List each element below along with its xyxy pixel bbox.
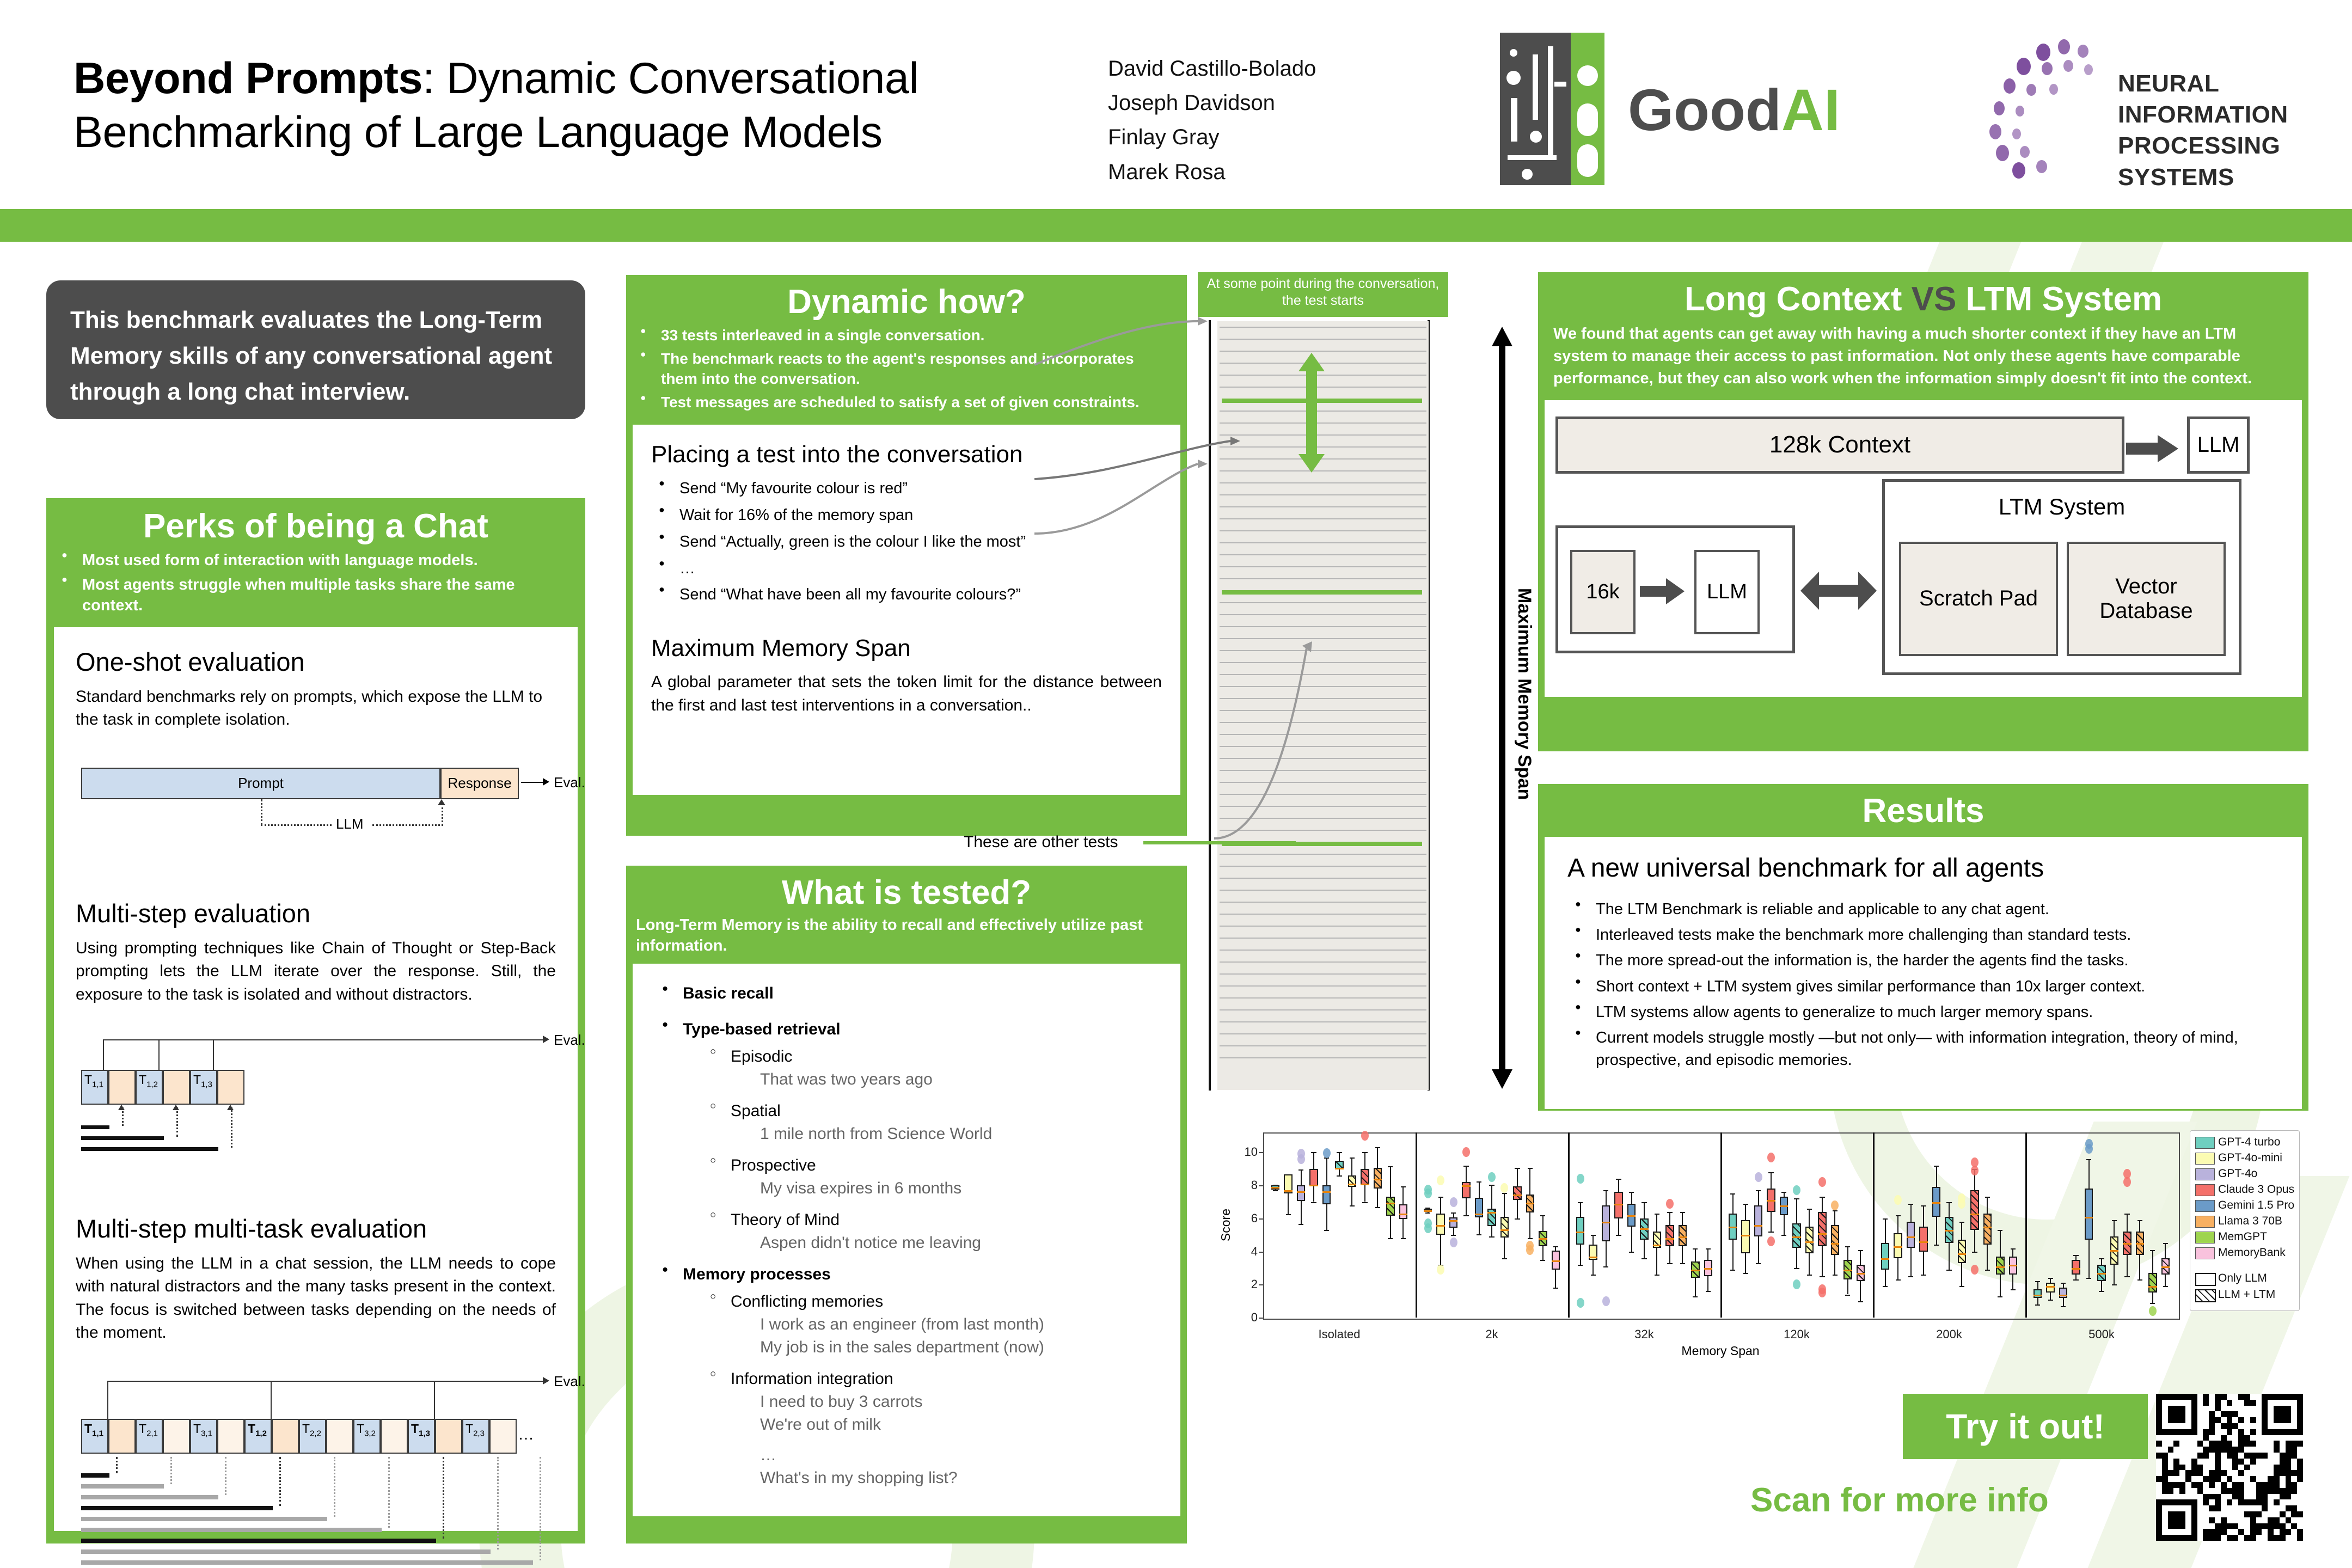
max-span-arrow-icon: [1492, 327, 1514, 1089]
median-line: [2085, 1217, 2093, 1218]
conversation-line: [1220, 890, 1426, 891]
hatch-pattern: [1336, 1162, 1342, 1168]
multi-step-body: Using prompting techniques like Chain of…: [76, 937, 556, 1007]
dynamic-bullets: 33 tests interleaved in a single convers…: [626, 326, 1187, 425]
median-line: [1818, 1233, 1826, 1235]
median-line: [1780, 1205, 1788, 1207]
conversation-line: [1220, 566, 1426, 567]
whisker-cap: [1883, 1286, 1888, 1287]
outlier-point: [1361, 1131, 1369, 1141]
whisker-cap: [1768, 1232, 1773, 1233]
neurips-line-2: PROCESSING SYSTEMS: [2118, 130, 2319, 192]
memory-bar: [81, 1549, 491, 1554]
whisker-cap: [2137, 1220, 2142, 1221]
legend-label: MemGPT: [2218, 1230, 2267, 1244]
legend-label: MemoryBank: [2218, 1246, 2286, 1259]
tested-example: My job is in the sales department (now): [731, 1336, 1159, 1359]
whisker-cap: [1603, 1190, 1608, 1191]
y-tick: [1259, 1318, 1263, 1319]
median-line: [1996, 1266, 2004, 1268]
box: [1399, 1204, 1407, 1219]
results-bullets: The LTM Benchmark is reliable and applic…: [1567, 898, 2279, 1071]
whisker-cap: [2163, 1286, 2168, 1287]
task-cell: T2,3: [462, 1419, 489, 1454]
box: [1462, 1182, 1470, 1198]
whisker-cap: [2137, 1279, 2142, 1281]
group-separator: [2025, 1132, 2027, 1318]
whisker-cap: [1388, 1166, 1393, 1167]
memory-span-body: A global parameter that sets the token l…: [651, 671, 1162, 717]
results-bullet: LTM systems allow agents to generalize t…: [1567, 1001, 2279, 1024]
whisker-cap: [1934, 1245, 1939, 1246]
outlier-point: [1577, 1298, 1584, 1308]
outlier-point: [2085, 1139, 2093, 1149]
heading-ltm-system: LTM System: [1956, 280, 2162, 318]
whisker-cap: [1629, 1192, 1634, 1193]
filler-cell: [326, 1419, 353, 1454]
conversation-line: [1220, 626, 1426, 627]
llm-loop-label: LLM: [336, 816, 364, 832]
box: [1919, 1227, 1927, 1252]
qr-code[interactable]: [2156, 1394, 2303, 1541]
perks-bullet: Most used form of interaction with langu…: [54, 550, 570, 571]
box: [1449, 1217, 1457, 1227]
dynamic-body: Placing a test into the conversation Sen…: [633, 425, 1180, 795]
whisker-cap: [1337, 1175, 1342, 1177]
page-title: Beyond Prompts: Dynamic Conversational B…: [73, 52, 1092, 160]
whisker-cap: [2112, 1284, 2117, 1285]
memory-arrow-icon: [540, 1457, 542, 1560]
whisker-cap: [1489, 1236, 1494, 1238]
median-line: [1792, 1236, 1800, 1238]
context-128k-box: 128k Context: [1555, 416, 2124, 474]
whisker-cap: [1425, 1212, 1430, 1214]
box: [1881, 1243, 1889, 1270]
median-line: [1919, 1241, 1927, 1243]
header-divider-band: [0, 209, 2352, 242]
task-cell: T1,2: [244, 1419, 272, 1454]
whisker-cap: [1858, 1301, 1863, 1302]
median-line: [1691, 1270, 1699, 1271]
outlier-point: [1971, 1157, 1979, 1167]
whisker-cap: [1591, 1275, 1596, 1276]
median-line: [1983, 1227, 1992, 1228]
multi-step-title: Multi-step evaluation: [76, 898, 556, 928]
conversation-line: [1220, 674, 1426, 675]
whisker-cap: [1680, 1212, 1685, 1213]
tested-sublist: Episodic That was two years ago Spatial …: [683, 1045, 1159, 1254]
memory-arrow-icon: [116, 1457, 119, 1473]
whisker-cap: [2086, 1159, 2091, 1160]
goodai-wordmark: GoodAI: [1628, 81, 1840, 139]
whisker-cap: [1286, 1214, 1291, 1215]
whisker-cap: [2150, 1303, 2155, 1304]
max-memory-span-label: Maximum Memory Span: [1514, 588, 1535, 800]
x-tick-label: 200k: [1873, 1327, 2025, 1342]
whisker-cap: [1655, 1214, 1659, 1215]
tested-item-label: Type-based retrieval: [683, 1020, 841, 1038]
whisker-cap: [2035, 1281, 2040, 1282]
x-tick-label: 120k: [1720, 1327, 1873, 1342]
whisker-cap: [1311, 1202, 1316, 1203]
whisker-cap: [1388, 1238, 1393, 1239]
median-line: [2136, 1243, 2144, 1245]
median-line: [1729, 1227, 1737, 1228]
hatch-pattern: [1793, 1224, 1799, 1247]
results-bullet: Interleaved tests make the benchmark mor…: [1567, 924, 2279, 946]
conversation-line: [1220, 1033, 1426, 1034]
hatch-pattern: [1806, 1228, 1812, 1252]
conversation-callout: At some point during the conversation, t…: [1198, 272, 1448, 317]
llm-top-label: LLM: [2197, 433, 2240, 457]
llm-bottom-box: LLM: [1694, 550, 1760, 634]
tested-subitem: Theory of Mind Aspen didn't notice me le…: [702, 1209, 1159, 1254]
prompt-block-label: Prompt: [81, 768, 440, 799]
context-16k-label: 16k: [1586, 580, 1619, 604]
vector-db-box: Vector Database: [2067, 542, 2226, 656]
test-message-line: [1222, 590, 1422, 595]
median-line: [2046, 1286, 2054, 1288]
conversation-line: [1220, 1045, 1426, 1046]
conversation-line: [1220, 973, 1426, 975]
box: [1309, 1169, 1318, 1186]
outlier-point: [1971, 1265, 1979, 1275]
conversation-line: [1220, 638, 1426, 639]
legend-swatch: [2195, 1232, 2215, 1244]
whisker-cap: [2073, 1279, 2078, 1281]
x-tick-label: 32k: [1568, 1327, 1720, 1342]
outlier-point: [1577, 1174, 1584, 1184]
x-axis-label: Memory Span: [1263, 1344, 2178, 1358]
conversation-line: [1220, 926, 1426, 927]
goodai-ai-text: AI: [1781, 77, 1840, 143]
whisker-cap: [1896, 1279, 1901, 1281]
neurips-wordmark: NEURAL INFORMATION PROCESSING SYSTEMS: [2118, 68, 2319, 193]
intro-callout: This benchmark evaluates the Long-Term M…: [46, 280, 585, 419]
results-bullet: The LTM Benchmark is reliable and applic…: [1567, 898, 2279, 921]
task-cell: T1,1: [81, 1419, 108, 1454]
box: [1297, 1185, 1305, 1201]
placing-bullets: Send “My favourite colour is red” Wait f…: [651, 477, 1162, 607]
tested-example: We're out of milk: [731, 1413, 1159, 1436]
y-tick-label: 4: [1239, 1245, 1258, 1259]
dynamic-bullet: 33 tests interleaved in a single convers…: [633, 326, 1168, 346]
whisker-cap: [1401, 1238, 1406, 1239]
whisker-cap: [1706, 1248, 1711, 1249]
legend-swatch: [2195, 1200, 2215, 1212]
tested-item: Type-based retrieval Episodic That was t…: [654, 1018, 1159, 1254]
tested-subitem: Spatial 1 mile north from Science World: [702, 1100, 1159, 1146]
legend-label: Gemini 1.5 Pro: [2218, 1199, 2294, 1212]
box: [1805, 1227, 1814, 1253]
box: [1576, 1217, 1584, 1245]
tested-example: I work as an engineer (from last month): [731, 1313, 1159, 1336]
whisker-cap: [1794, 1268, 1799, 1269]
legend-swatch: [2195, 1153, 2215, 1165]
y-tick: [1259, 1252, 1263, 1253]
whisker-cap: [1820, 1197, 1824, 1198]
tested-example: I need to buy 3 carrots: [731, 1391, 1159, 1413]
legend-label: GPT-4o-mini: [2218, 1151, 2282, 1165]
box: [1754, 1205, 1762, 1237]
hatch-pattern: [2196, 1290, 2215, 1301]
box: [1970, 1190, 1979, 1230]
conversation-line: [1220, 818, 1426, 819]
whisker-cap: [1273, 1190, 1278, 1191]
whisker-cap: [2150, 1250, 2155, 1251]
conversation-line: [1220, 746, 1426, 747]
legend-style-swatch: [2195, 1289, 2216, 1302]
conversation-line: [1220, 902, 1426, 903]
y-tick-label: 10: [1239, 1145, 1258, 1159]
whisker-cap: [1908, 1276, 1913, 1277]
task-cell: T3,1: [190, 1419, 217, 1454]
whisker-cap: [1603, 1266, 1608, 1267]
whisker-cap: [1553, 1246, 1558, 1247]
median-line: [1449, 1220, 1457, 1222]
task-cell: T2,2: [299, 1419, 326, 1454]
legend-label: Claude 3 Opus: [2218, 1183, 2294, 1196]
legend-swatch: [2195, 1247, 2215, 1259]
whisker-cap: [1616, 1235, 1621, 1236]
perks-bullet: Most agents struggle when multiple tasks…: [54, 574, 570, 616]
memory-arrow-icon: [334, 1457, 336, 1517]
whisker-cap: [2099, 1291, 2104, 1292]
median-line: [1665, 1238, 1674, 1240]
box: [1386, 1197, 1394, 1216]
outlier-point: [1818, 1177, 1826, 1187]
placing-bullet: Wait for 16% of the memory span: [651, 504, 1162, 527]
median-line: [1704, 1268, 1712, 1270]
goodai-eye-icon: [1571, 33, 1604, 185]
whisker-cap: [1401, 1186, 1406, 1187]
tested-item: Memory processes Conflicting memories I …: [654, 1263, 1159, 1490]
box: [1602, 1205, 1610, 1242]
whisker-cap: [1578, 1265, 1583, 1266]
whisker-cap: [2048, 1278, 2053, 1279]
multi-step-diagram: Eval. T1,1 T1,2 T1,3: [76, 1034, 556, 1197]
median-line: [1576, 1232, 1584, 1233]
whisker-cap: [1463, 1215, 1468, 1216]
hatch-pattern: [1680, 1226, 1686, 1245]
box: [2072, 1260, 2080, 1275]
conversation-line: [1220, 614, 1426, 615]
outlier-point: [2149, 1306, 2157, 1316]
whisker-cap: [1985, 1270, 1990, 1271]
whisker-cap: [1667, 1263, 1672, 1264]
whisker-cap: [1998, 1296, 2002, 1297]
author-name: David Castillo-Bolado: [1108, 52, 1316, 86]
hatch-pattern: [1959, 1241, 1965, 1262]
conversation-line: [1220, 339, 1426, 340]
tested-subitem-label: Information integration: [731, 1370, 893, 1388]
placing-bullet: Send “Actually, green is the colour I li…: [651, 530, 1162, 554]
whisker-cap: [1362, 1202, 1367, 1203]
whisker-cap: [1616, 1179, 1621, 1180]
box: [1513, 1186, 1521, 1200]
conversation-line: [1220, 794, 1426, 795]
median-line: [1284, 1190, 1292, 1192]
title-emphasis: Beyond Prompts: [73, 54, 422, 103]
memory-bar: [81, 1473, 109, 1478]
perks-heading: Perks of being a Chat: [46, 498, 585, 550]
y-tick: [1259, 1218, 1263, 1220]
median-line: [2123, 1243, 2131, 1245]
conversation-line: [1220, 878, 1426, 879]
neurips-line-1: NEURAL INFORMATION: [2118, 68, 2319, 130]
x-tick-label: 500k: [2025, 1327, 2178, 1342]
multi-task-diagram: Eval. T1,1T2,1T3,1T1,2T2,2T3,2T1,3T2,3 …: [76, 1375, 556, 1560]
x-tick-label: 2k: [1416, 1327, 1568, 1342]
conversation-line: [1220, 518, 1426, 519]
whisker-cap: [1540, 1215, 1545, 1216]
legend-swatch: [2195, 1168, 2215, 1180]
hatch-pattern: [1514, 1187, 1520, 1199]
perks-body: One-shot evaluation Standard benchmarks …: [54, 627, 578, 1531]
conversation-line: [1220, 950, 1426, 951]
median-line: [1399, 1214, 1407, 1215]
author-name: Marek Rosa: [1108, 155, 1316, 189]
tested-sublist: Conflicting memories I work as an engine…: [683, 1290, 1159, 1490]
median-line: [1627, 1215, 1636, 1217]
group-separator: [1416, 1132, 1417, 1318]
conversation-line: [1220, 554, 1426, 555]
long-context-heading: Long Context VS LTM System: [1538, 272, 2308, 323]
box: [1436, 1214, 1444, 1235]
conversation-line: [1220, 698, 1426, 699]
legend-label: GPT-4 turbo: [2218, 1136, 2280, 1149]
memory-arrow-icon: [388, 1457, 391, 1528]
whisker-cap: [1591, 1235, 1596, 1236]
whisker-cap: [1502, 1193, 1507, 1194]
median-line: [1335, 1168, 1343, 1169]
median-line: [1386, 1203, 1394, 1204]
whisker-cap: [1959, 1286, 1964, 1287]
whisker-cap: [1959, 1222, 1964, 1223]
median-line: [1297, 1191, 1305, 1193]
memory-arrow-icon: [443, 1457, 445, 1539]
conversation-line: [1220, 1057, 1426, 1058]
median-line: [2148, 1286, 2157, 1288]
conversation-line: [1220, 650, 1426, 651]
other-tests-label: These are other tests: [964, 833, 1118, 852]
hatch-pattern: [1667, 1226, 1673, 1245]
whisker-cap: [2124, 1276, 2129, 1277]
conversation-line: [1220, 782, 1426, 783]
tested-item-label: Memory processes: [683, 1265, 831, 1283]
goodai-logo: GoodAI: [1500, 33, 1914, 185]
vector-db-label: Vector Database: [2069, 574, 2224, 623]
whisker-cap: [1641, 1258, 1646, 1259]
whisker-cap: [1629, 1252, 1634, 1253]
median-line: [1614, 1204, 1622, 1205]
circuit-pattern-icon: [1500, 33, 1571, 185]
hatch-pattern: [1984, 1215, 1990, 1244]
filler-cell: [489, 1419, 517, 1454]
hatch-pattern: [1832, 1226, 1838, 1254]
whisker-cap: [1311, 1152, 1316, 1153]
task-cell: T2,1: [136, 1419, 163, 1454]
whisker-cap: [1781, 1192, 1786, 1193]
whisker-cap: [1807, 1209, 1812, 1210]
tested-example: …: [731, 1444, 1159, 1467]
median-line: [1589, 1257, 1597, 1258]
hatch-pattern: [1971, 1191, 1977, 1229]
conversation-line: [1220, 734, 1426, 735]
context-16k-box: 16k: [1570, 550, 1636, 634]
heading-long-context: Long Context: [1685, 280, 1912, 318]
median-line: [1361, 1184, 1369, 1185]
box: [1958, 1240, 1966, 1263]
conversation-line: [1220, 914, 1426, 915]
llm-bottom-label: LLM: [1707, 580, 1747, 604]
median-line: [2110, 1250, 2118, 1252]
whisker-cap: [1985, 1197, 1990, 1198]
eval-label: Eval.: [554, 774, 585, 791]
placing-title: Placing a test into the conversation: [651, 441, 1162, 468]
eval-label: Eval.: [554, 1032, 585, 1049]
box: [1487, 1209, 1496, 1226]
filler-cell: [435, 1419, 462, 1454]
whisker-cap: [1858, 1250, 1863, 1251]
box: [1500, 1217, 1509, 1238]
whisker-cap: [1438, 1197, 1443, 1198]
outlier-point: [1424, 1218, 1432, 1228]
filler-cell: [381, 1419, 408, 1454]
y-tick-label: 8: [1239, 1178, 1258, 1192]
filler-cell: [163, 1419, 190, 1454]
response-block-label: Response: [440, 768, 519, 799]
whisker-cap: [1883, 1218, 1888, 1220]
box: [1894, 1233, 1902, 1258]
whisker-cap: [2061, 1283, 2066, 1284]
outlier-point: [1666, 1199, 1674, 1209]
whisker-cap: [2061, 1306, 2066, 1307]
tested-subitem-label: Episodic: [731, 1048, 792, 1065]
tested-subitem: Episodic That was two years ago: [702, 1045, 1159, 1091]
whisker-cap: [1515, 1168, 1520, 1169]
try-it-out-button[interactable]: Try it out!: [1903, 1394, 2148, 1459]
median-line: [1831, 1243, 1839, 1245]
author-name: Joseph Davidson: [1108, 86, 1316, 120]
tested-item: Basic recall: [654, 982, 1159, 1005]
filler-cell: [217, 1419, 244, 1454]
box: [1361, 1169, 1369, 1185]
median-line: [1741, 1235, 1749, 1236]
conversation-line: [1220, 961, 1426, 963]
whisker-cap: [2124, 1214, 2129, 1215]
dynamic-how-panel: Dynamic how? 33 tests interleaved in a s…: [626, 275, 1187, 836]
ltm-system-box: LTM System Scratch Pad Vector Database: [1882, 479, 2241, 675]
goodai-good-text: Good: [1628, 77, 1781, 143]
context-128k-label: 128k Context: [1769, 431, 1910, 458]
memory-bar: [81, 1517, 327, 1521]
whisker-cap: [1298, 1169, 1303, 1171]
whisker-cap: [1362, 1152, 1367, 1153]
median-line: [1348, 1184, 1356, 1185]
conversation-line: [1220, 482, 1426, 483]
memory-arrow-icon: [279, 1457, 282, 1506]
filler-cell: [108, 1419, 136, 1454]
median-line: [2033, 1295, 2042, 1296]
memory-span-title: Maximum Memory Span: [651, 635, 1162, 662]
conversation-line: [1220, 578, 1426, 579]
legend-label: Llama 3 70B: [2218, 1215, 2282, 1228]
legend-style-swatch: [2195, 1273, 2216, 1286]
box: [1996, 1257, 2004, 1275]
conversation-line: [1220, 1021, 1426, 1022]
legend-style-label: LLM + LTM: [2218, 1288, 2275, 1301]
